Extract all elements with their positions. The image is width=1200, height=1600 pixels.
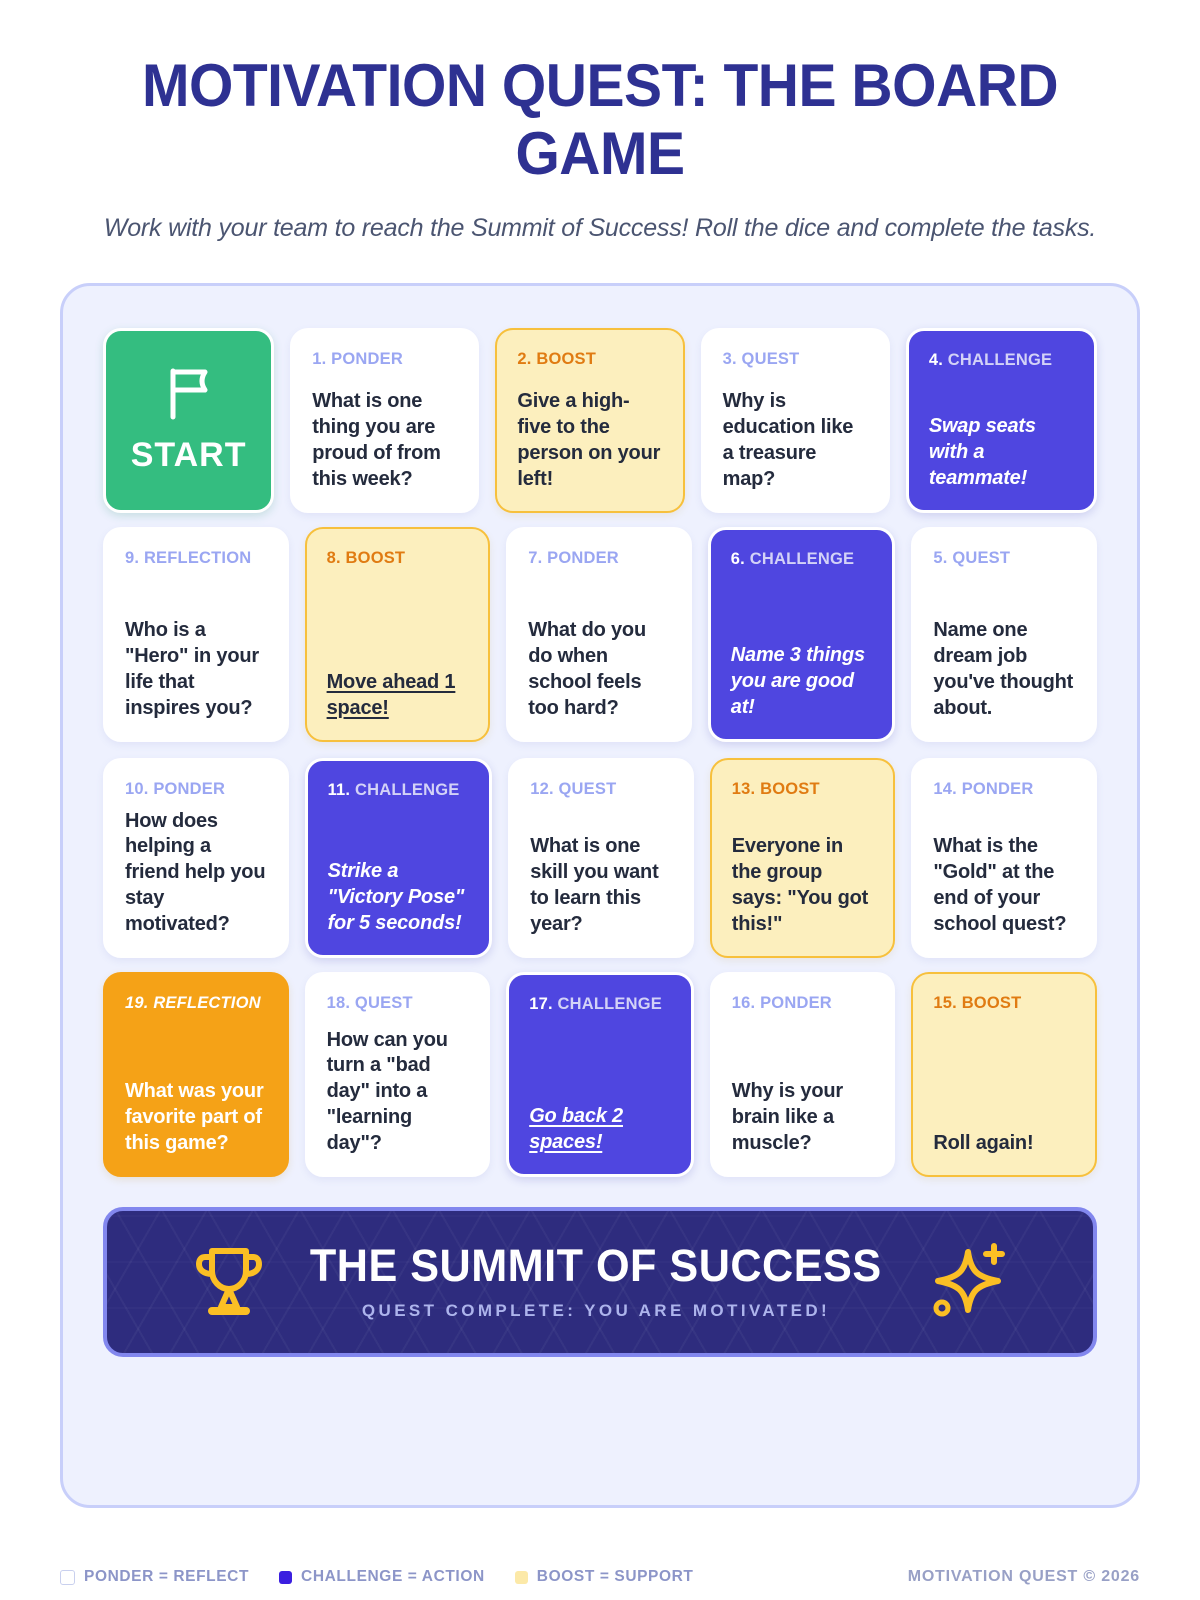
board-row-4: 19. REFLECTION What was your favorite pa… [103, 972, 1097, 1177]
page-subtitle: Work with your team to reach the Summit … [60, 188, 1140, 243]
board-row-1: START 1. PONDER What is one thing you ar… [103, 328, 1097, 513]
cell-label: 4. CHALLENGE [929, 349, 1074, 371]
cell-body: Roll again! [933, 1131, 1075, 1157]
summit-content: THE SUMMIT OF SUCCESS QUEST COMPLETE: YO… [194, 1238, 1006, 1325]
cell-body: Everyone in the group says: "You got thi… [732, 834, 874, 937]
cell-label: 11. CHALLENGE [328, 779, 470, 801]
start-tile[interactable]: START [103, 328, 274, 513]
footer: PONDER = REFLECT CHALLENGE = ACTION BOOS… [60, 1568, 1140, 1586]
board-cell-16[interactable]: 16. PONDER Why is your brain like a musc… [710, 972, 896, 1177]
legend: PONDER = REFLECT CHALLENGE = ACTION BOOS… [60, 1568, 694, 1586]
summit-title: THE SUMMIT OF SUCCESS [310, 1242, 882, 1289]
board-cell-9[interactable]: 9. REFLECTION Who is a "Hero" in your li… [103, 527, 289, 742]
start-label: START [131, 436, 247, 475]
board-cell-12[interactable]: 12. QUEST What is one skill you want to … [508, 758, 694, 958]
cell-label: 16. PONDER [732, 992, 874, 1014]
board-cell-11[interactable]: 11. CHALLENGE Strike a "Victory Pose" fo… [305, 758, 493, 958]
cell-body: Go back 2 spaces! [529, 1104, 671, 1156]
board-cell-10[interactable]: 10. PONDER How does helping a friend hel… [103, 758, 289, 958]
board-cell-5[interactable]: 5. QUEST Name one dream job you've thoug… [911, 527, 1097, 742]
boost-swatch-icon [515, 1571, 528, 1584]
cell-label: 14. PONDER [933, 778, 1075, 800]
cell-body: Move ahead 1 space! [327, 670, 469, 722]
board-cell-7[interactable]: 7. PONDER What do you do when school fee… [506, 527, 692, 742]
cell-label: 1. PONDER [312, 348, 457, 370]
challenge-swatch-icon [279, 1571, 292, 1584]
cell-label: 6. CHALLENGE [731, 548, 873, 570]
cell-body: Why is education like a treasure map? [723, 389, 868, 492]
cell-body: Who is a "Hero" in your life that inspir… [125, 618, 267, 721]
cell-body: Name one dream job you've thought about. [933, 618, 1075, 721]
legend-item-boost: BOOST = SUPPORT [515, 1568, 694, 1586]
board-cell-18[interactable]: 18. QUEST How can you turn a "bad day" i… [305, 972, 491, 1177]
board-cell-15[interactable]: 15. BOOST Roll again! [911, 972, 1097, 1177]
cell-label: 9. REFLECTION [125, 547, 267, 569]
board-cell-4[interactable]: 4. CHALLENGE Swap seats with a teammate! [906, 328, 1097, 513]
board-cell-17[interactable]: 17. CHALLENGE Go back 2 spaces! [506, 972, 694, 1177]
cell-body: How does helping a friend help you stay … [125, 809, 267, 938]
board-cell-19[interactable]: 19. REFLECTION What was your favorite pa… [103, 972, 289, 1177]
cell-body: What is one thing you are proud of from … [312, 389, 457, 492]
cell-body: Name 3 things you are good at! [731, 643, 873, 720]
cell-label: 5. QUEST [933, 547, 1075, 569]
cell-label: 18. QUEST [327, 992, 469, 1014]
legend-label: BOOST = SUPPORT [537, 1568, 694, 1586]
board-cell-6[interactable]: 6. CHALLENGE Name 3 things you are good … [708, 527, 896, 742]
cell-label: 15. BOOST [933, 992, 1075, 1014]
board-cell-2[interactable]: 2. BOOST Give a high-five to the person … [495, 328, 684, 513]
summit-subtitle: QUEST COMPLETE: YOU ARE MOTIVATED! [298, 1301, 894, 1321]
legend-item-ponder: PONDER = REFLECT [60, 1568, 249, 1586]
flag-icon [163, 365, 215, 426]
cell-body: What was your favorite part of this game… [125, 1079, 267, 1156]
cell-label: 3. QUEST [723, 348, 868, 370]
cell-body: Swap seats with a teammate! [929, 414, 1074, 491]
board-row-3: 10. PONDER How does helping a friend hel… [103, 758, 1097, 958]
copyright: MOTIVATION QUEST © 2026 [908, 1568, 1140, 1586]
cell-body: What is one skill you want to learn this… [530, 834, 672, 937]
board-cell-13[interactable]: 13. BOOST Everyone in the group says: "Y… [710, 758, 896, 958]
cell-body: What is the "Gold" at the end of your sc… [933, 834, 1075, 937]
page-title: MOTIVATION QUEST: THE BOARD GAME [87, 0, 1113, 188]
cell-label: 17. CHALLENGE [529, 993, 671, 1015]
cell-body: Strike a "Victory Pose" for 5 seconds! [328, 859, 470, 936]
game-board: START 1. PONDER What is one thing you ar… [60, 283, 1140, 1508]
cell-label: 10. PONDER [125, 778, 267, 800]
cell-label: 13. BOOST [732, 778, 874, 800]
cell-body: Why is your brain like a muscle? [732, 1079, 874, 1156]
legend-item-challenge: CHALLENGE = ACTION [279, 1568, 485, 1586]
poster-page: MOTIVATION QUEST: THE BOARD GAME Work wi… [0, 0, 1200, 1600]
board-cell-3[interactable]: 3. QUEST Why is education like a treasur… [701, 328, 890, 513]
cell-label: 8. BOOST [327, 547, 469, 569]
sparkle-icon [928, 1238, 1006, 1325]
cell-label: 7. PONDER [528, 547, 670, 569]
cell-body: How can you turn a "bad day" into a "lea… [327, 1028, 469, 1157]
cell-label: 2. BOOST [517, 348, 662, 370]
cell-body: Give a high-five to the person on your l… [517, 389, 662, 492]
board-row-2: 9. REFLECTION Who is a "Hero" in your li… [103, 527, 1097, 742]
cell-body: What do you do when school feels too har… [528, 618, 670, 721]
cell-label: 12. QUEST [530, 778, 672, 800]
trophy-icon [194, 1239, 264, 1324]
summit-banner: THE SUMMIT OF SUCCESS QUEST COMPLETE: YO… [103, 1207, 1097, 1357]
ponder-swatch-icon [60, 1570, 75, 1585]
board-cell-8[interactable]: 8. BOOST Move ahead 1 space! [305, 527, 491, 742]
legend-label: CHALLENGE = ACTION [301, 1568, 485, 1586]
cell-label: 19. REFLECTION [125, 992, 267, 1014]
legend-label: PONDER = REFLECT [84, 1568, 249, 1586]
board-cell-14[interactable]: 14. PONDER What is the "Gold" at the end… [911, 758, 1097, 958]
board-cell-1[interactable]: 1. PONDER What is one thing you are prou… [290, 328, 479, 513]
